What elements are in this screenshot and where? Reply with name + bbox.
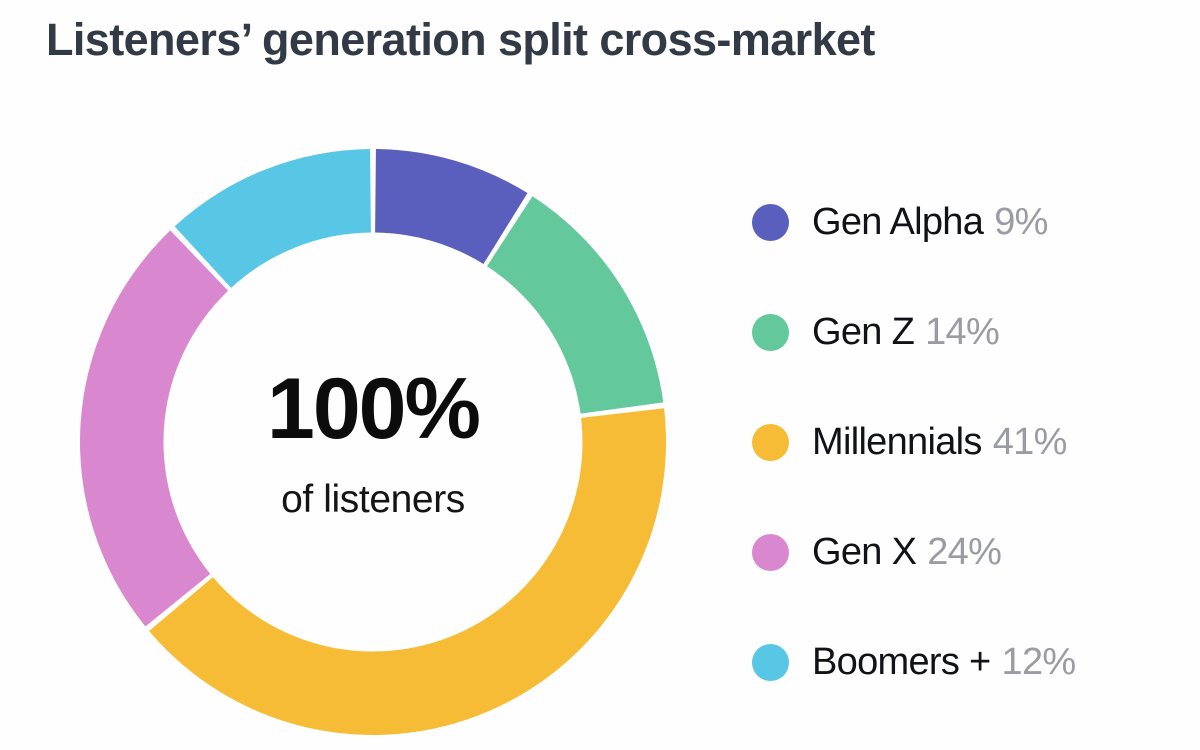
yellow-dot bbox=[752, 424, 789, 461]
legend-item-gen-z[interactable]: Gen Z14% bbox=[752, 306, 1172, 358]
legend-label: Millennials bbox=[812, 421, 982, 463]
green-dot bbox=[752, 314, 789, 351]
legend-text: Gen Alpha9% bbox=[812, 203, 1048, 241]
legend-label: Boomers + bbox=[812, 641, 991, 683]
legend-label: Gen X bbox=[812, 531, 916, 573]
blue-dot bbox=[752, 204, 789, 241]
chart-page: Listeners’ generation split cross-market… bbox=[0, 0, 1200, 750]
chart-legend: Gen Alpha9%Gen Z14%Millennials41%Gen X24… bbox=[752, 196, 1172, 688]
legend-percent: 41% bbox=[993, 421, 1067, 463]
legend-text: Gen X24% bbox=[812, 533, 1001, 571]
legend-item-boomers[interactable]: Boomers +12% bbox=[752, 636, 1172, 688]
donut-slice-gen-x[interactable]: Gen X 24% bbox=[80, 230, 228, 626]
legend-percent: 24% bbox=[927, 531, 1001, 573]
donut-chart-svg: Gen Alpha 9%Gen Z 14%Millennials 41%Gen … bbox=[76, 145, 670, 739]
legend-percent: 9% bbox=[994, 201, 1048, 243]
legend-item-gen-x[interactable]: Gen X24% bbox=[752, 526, 1172, 578]
page-title: Listeners’ generation split cross-market bbox=[46, 14, 875, 66]
legend-label: Gen Alpha bbox=[812, 201, 983, 243]
donut-chart: Gen Alpha 9%Gen Z 14%Millennials 41%Gen … bbox=[76, 145, 670, 739]
legend-percent: 14% bbox=[925, 311, 999, 353]
legend-item-gen-alpha[interactable]: Gen Alpha9% bbox=[752, 196, 1172, 248]
cyan-dot bbox=[752, 644, 789, 681]
legend-percent: 12% bbox=[1002, 641, 1076, 683]
donut-slice-millennials[interactable]: Millennials 41% bbox=[149, 408, 666, 735]
legend-label: Gen Z bbox=[812, 311, 914, 353]
donut-slice-gen-z[interactable]: Gen Z 14% bbox=[487, 196, 663, 413]
legend-text: Boomers +12% bbox=[812, 643, 1075, 681]
legend-item-millennials[interactable]: Millennials41% bbox=[752, 416, 1172, 468]
donut-slice-group: Gen Alpha 9%Gen Z 14%Millennials 41%Gen … bbox=[80, 149, 666, 735]
pink-dot bbox=[752, 534, 789, 571]
legend-text: Millennials41% bbox=[812, 423, 1067, 461]
legend-text: Gen Z14% bbox=[812, 313, 999, 351]
